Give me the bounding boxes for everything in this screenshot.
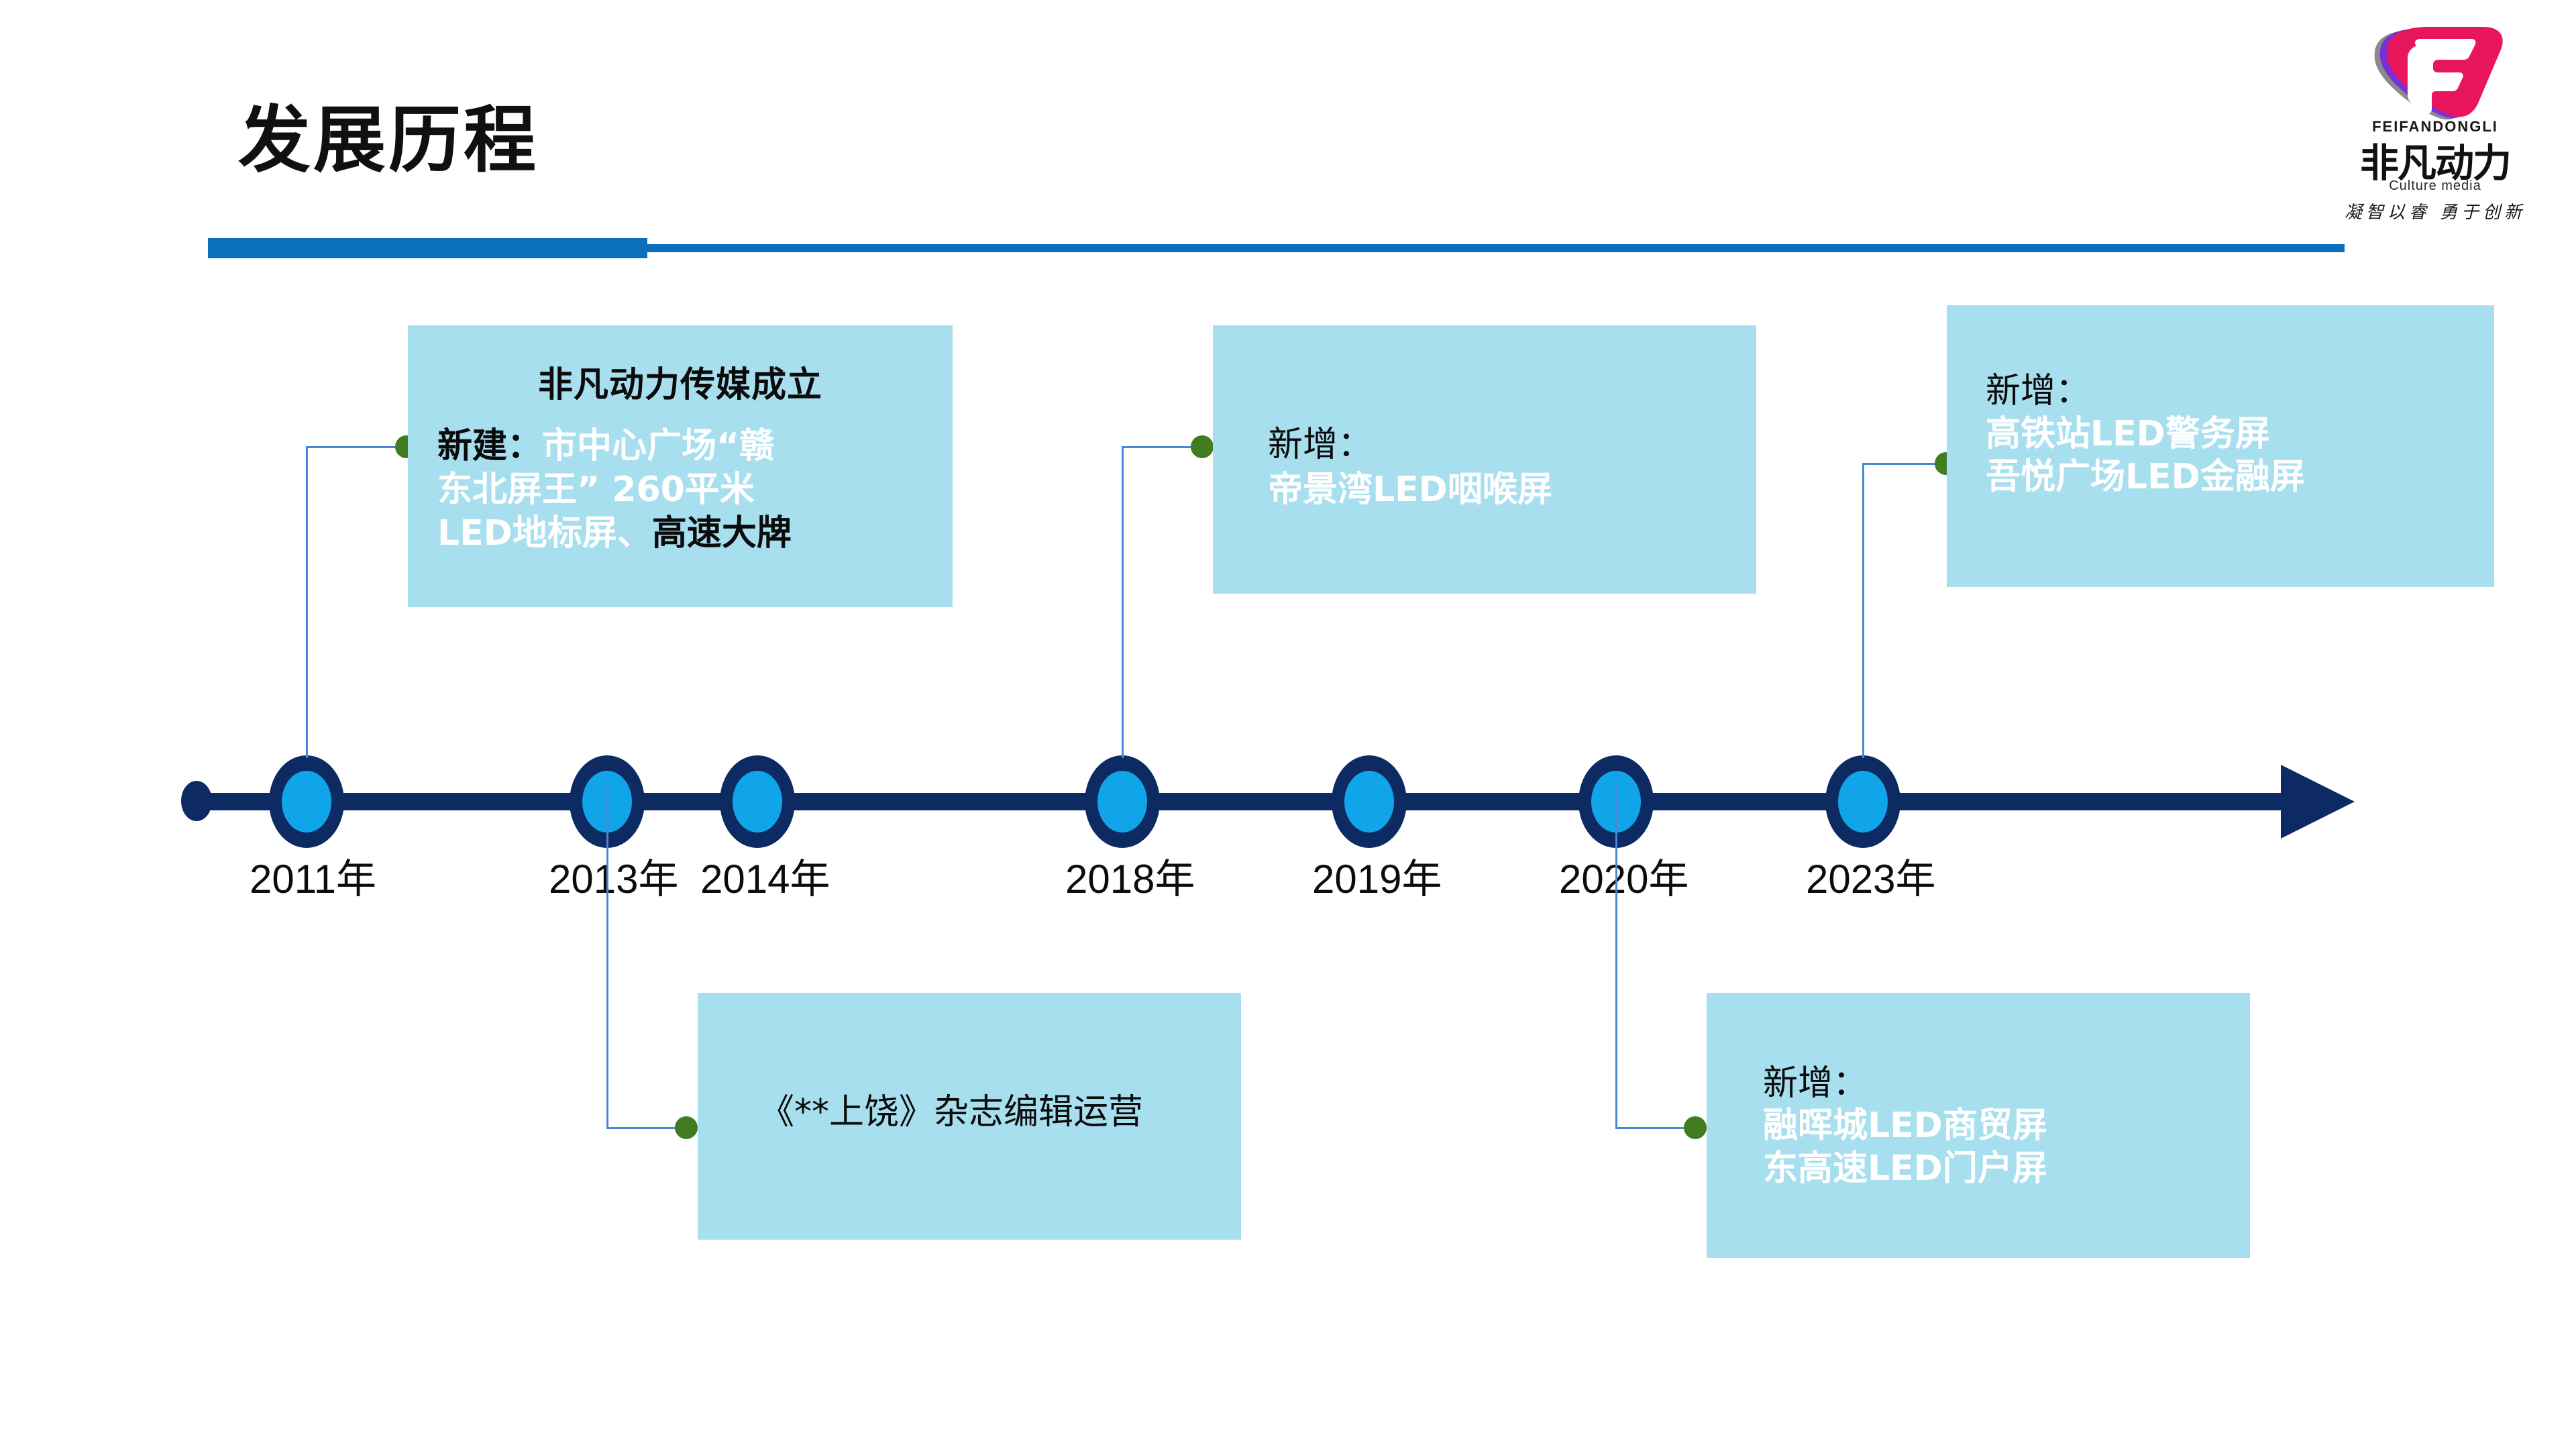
connector-dot-2013	[675, 1116, 698, 1139]
year-label-2011: 2011年	[250, 847, 376, 905]
connector-2018-vertical	[1122, 446, 1124, 758]
card-2011-line2: 东北屏王” 260平米	[437, 470, 755, 510]
logo-tagline: 凝智以睿 勇于创新	[2328, 199, 2542, 223]
card-2018-label: 新增：	[1268, 425, 1373, 465]
year-label-2020: 2020年	[1559, 847, 1688, 905]
card-2011-heading: 非凡动力传媒成立	[408, 356, 953, 407]
timeline-node-2019[interactable]	[1332, 755, 1407, 848]
year-label-2023: 2023年	[1806, 847, 1935, 905]
card-2011[interactable]: 非凡动力传媒成立 新建：市中心广场“赣 东北屏王” 260平米 LED地标屏、高…	[408, 325, 953, 607]
connector-2011-vertical	[306, 446, 308, 758]
connector-2011-horizontal	[306, 446, 407, 448]
logo-subtitle: Culture media	[2328, 178, 2542, 194]
year-label-2014: 2014年	[700, 847, 830, 905]
card-2018[interactable]: 新增： 帝景湾LED咽喉屏	[1213, 325, 1756, 594]
year-label-2013: 2013年	[549, 847, 678, 905]
card-2011-line3-black: 高速大牌	[652, 513, 792, 553]
company-logo: FEIFANDONGLI 非凡动力 Culture media 凝智以睿 勇于创…	[2328, 20, 2542, 221]
card-2011-line1-rest: 市中心广场“赣	[542, 426, 774, 466]
card-2011-line3: LED地标屏、高速大牌	[437, 513, 792, 553]
timeline-node-2014[interactable]	[720, 755, 795, 848]
card-2020-line1: 融晖城LED商贸屏	[1763, 1106, 2047, 1146]
page-title: 发展历程	[238, 101, 539, 180]
year-label-2018: 2018年	[1065, 847, 1195, 905]
connector-2018-horizontal	[1122, 446, 1202, 448]
card-2018-line1: 帝景湾LED咽喉屏	[1268, 470, 1552, 510]
title-underline-thick	[208, 238, 647, 258]
connector-2020-horizontal	[1615, 1127, 1695, 1129]
card-2023-line2: 吾悦广场LED金融屏	[1986, 457, 2305, 497]
timeline-axis	[195, 793, 2321, 810]
timeline-arrow-icon	[2281, 765, 2355, 839]
card-2023-label: 新增：	[1986, 371, 2090, 411]
connector-2023-vertical	[1862, 463, 1864, 758]
connector-2023-horizontal	[1862, 463, 1946, 465]
year-label-2019: 2019年	[1312, 847, 1442, 905]
connector-dot-2018	[1191, 435, 1214, 458]
timeline-node-2023[interactable]	[1825, 755, 1900, 848]
timeline-node-2018[interactable]	[1085, 755, 1160, 848]
connector-2013-vertical	[606, 785, 608, 1127]
title-underline-thin	[647, 244, 2345, 252]
card-2013[interactable]: 《**上饶》杂志编辑运营	[698, 993, 1241, 1240]
connector-dot-2020	[1684, 1116, 1707, 1139]
card-2013-text: 《**上饶》杂志编辑运营	[759, 1092, 1143, 1132]
card-2023[interactable]: 新增： 高铁站LED警务屏 吾悦广场LED金融屏	[1947, 305, 2494, 587]
logo-f-mark-icon	[2328, 20, 2542, 127]
timeline-node-2011[interactable]	[269, 755, 344, 848]
connector-2013-horizontal	[606, 1127, 686, 1129]
card-2011-label: 新建：	[437, 426, 542, 466]
card-2011-line3-white: LED地标屏、	[437, 513, 652, 553]
card-2011-line1: 新建：市中心广场“赣	[437, 426, 774, 466]
card-2020-label: 新增：	[1763, 1063, 1868, 1104]
card-2023-line1: 高铁站LED警务屏	[1986, 414, 2270, 454]
card-2020-line2: 东高速LED门户屏	[1763, 1148, 2047, 1189]
connector-2020-vertical	[1615, 785, 1617, 1127]
card-2020[interactable]: 新增： 融晖城LED商贸屏 东高速LED门户屏	[1707, 993, 2250, 1258]
